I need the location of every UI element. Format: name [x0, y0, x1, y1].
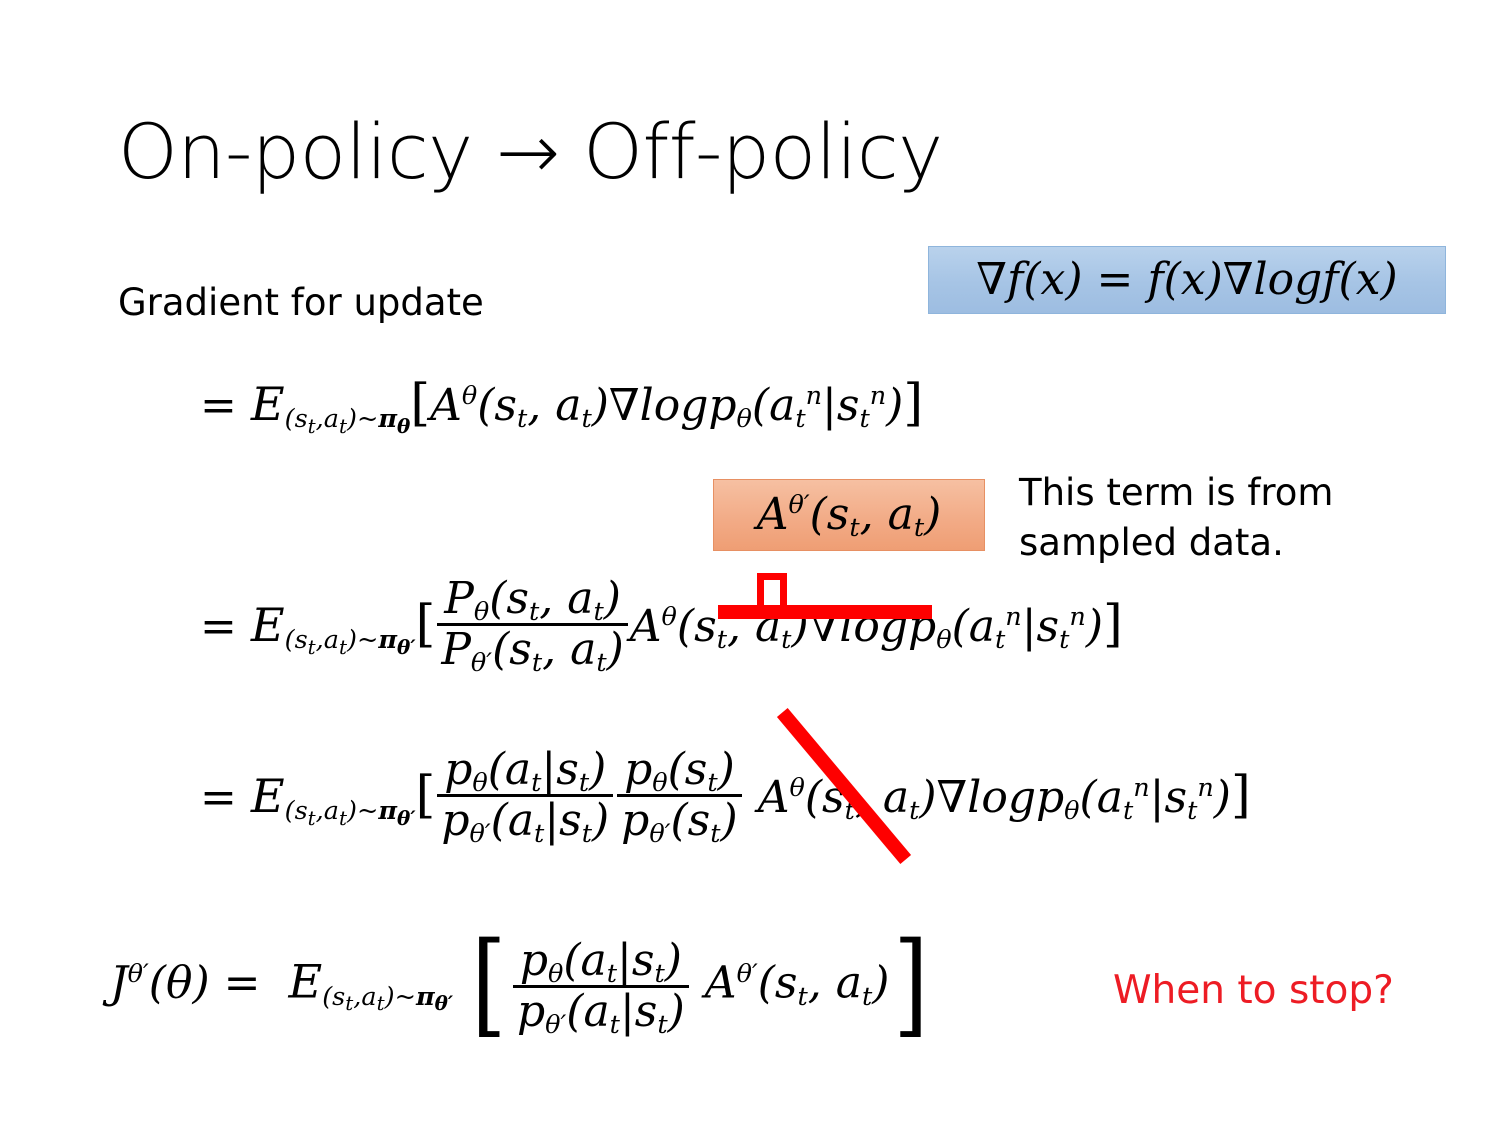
advantage-theta-prime-formula: Aθ′(st, at): [757, 493, 942, 537]
equation-3: = E(st,at)~πθ′[pθ(at|st)pθ′(at|st)pθ(st)…: [200, 748, 1251, 843]
slide-canvas: On-policy → Off-policy Gradient for upda…: [0, 0, 1500, 1125]
page-title: On-policy → Off-policy: [118, 112, 943, 192]
gradient-for-update-label: Gradient for update: [118, 278, 484, 328]
highlight-rectangle-theta-eq2: [757, 573, 787, 617]
equation-1: = E(st,at)~πθ[Aθ(st, at)∇logpθ(atn|stn)]: [200, 378, 923, 429]
identity-formula: ∇f(x) = f(x)∇logf(x): [976, 258, 1397, 302]
equation-2: = E(st,at)~πθ′[Pθ(st, at)Pθ′(st, at)Aθ(s…: [200, 577, 1123, 672]
strikethrough-advantage-eq2: [718, 605, 932, 619]
when-to-stop-note: When to stop?: [1113, 965, 1394, 1018]
sampled-data-note: This term is from sampled data.: [1019, 468, 1419, 568]
orange-advantage-highlight-box: Aθ′(st, at): [713, 479, 985, 551]
equation-4: Jθ′(θ) = E(st,at)~πθ′ [pθ(at|st)pθ′(at|s…: [110, 930, 933, 1042]
blue-identity-highlight-box: ∇f(x) = f(x)∇logf(x): [928, 246, 1446, 314]
